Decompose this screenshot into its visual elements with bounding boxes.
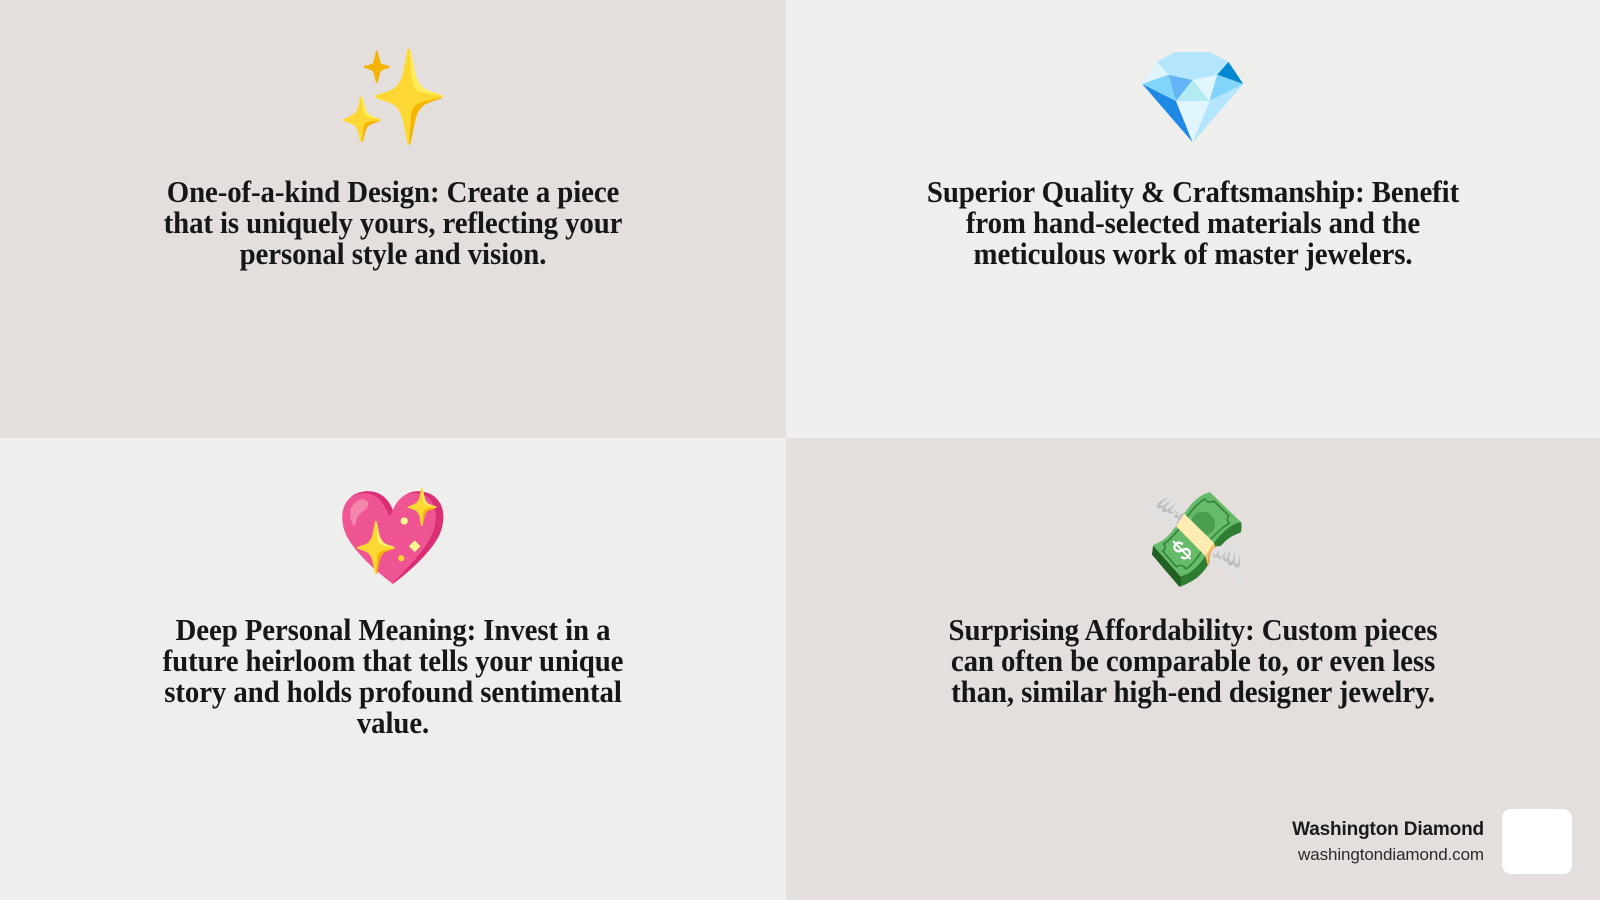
brand-logo-placeholder [1502,809,1572,874]
benefit-text: Deep Personal Meaning: Invest in a futur… [151,614,635,738]
money-with-wings-emoji: 💸 [1136,494,1251,586]
brand-website-url[interactable]: washingtondiamond.com [1298,845,1484,865]
sparkling-heart-emoji: 💖 [336,492,451,584]
benefit-text: Surprising Affordability: Custom pieces … [933,614,1454,707]
benefit-card-superior-quality-craftsmanship: 💎 Superior Quality & Craftsmanship: Bene… [786,0,1600,438]
brand-text-group: Washington Diamond washingtondiamond.com [1292,819,1484,865]
sparkles-emoji: ✨ [336,52,451,144]
benefits-grid: ✨ One-of-a-kind Design: Create a piece t… [0,0,1600,900]
benefit-card-one-of-a-kind-design: ✨ One-of-a-kind Design: Create a piece t… [0,0,786,438]
benefit-card-surprising-affordability: 💸 Surprising Affordability: Custom piece… [786,438,1600,900]
brand-block: Washington Diamond washingtondiamond.com [1292,809,1572,874]
benefit-card-deep-personal-meaning: 💖 Deep Personal Meaning: Invest in a fut… [0,438,786,900]
brand-name: Washington Diamond [1292,819,1484,841]
benefit-text: One-of-a-kind Design: Create a piece tha… [151,176,635,269]
benefit-text: Superior Quality & Craftsmanship: Benefi… [918,176,1469,269]
gem-stone-emoji: 💎 [1136,52,1251,144]
